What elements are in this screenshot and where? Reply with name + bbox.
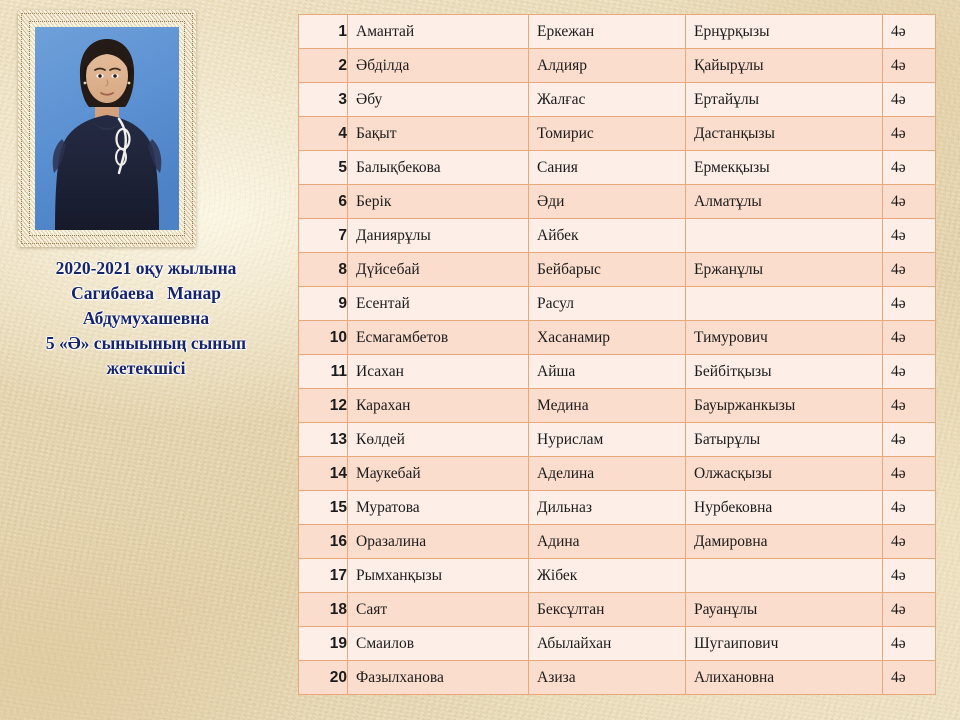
- cell-grade: 4ә: [883, 593, 936, 627]
- cell-row-number: 20: [299, 661, 348, 695]
- cell-grade: 4ә: [883, 559, 936, 593]
- table-row: 15МуратоваДильназНурбековна4ә: [299, 491, 936, 525]
- cell-patronymic: Шугаипович: [686, 627, 883, 661]
- cell-last-name: Есмагамбетов: [348, 321, 529, 355]
- caption-line-1: 2020-2021 оқу жылына: [6, 256, 286, 281]
- cell-last-name: Карахан: [348, 389, 529, 423]
- cell-first-name: Аделина: [529, 457, 686, 491]
- cell-grade: 4ә: [883, 83, 936, 117]
- cell-first-name: Жібек: [529, 559, 686, 593]
- cell-grade: 4ә: [883, 389, 936, 423]
- cell-patronymic: Дамировна: [686, 525, 883, 559]
- table-row: 7ДаниярұлыАйбек4ә: [299, 219, 936, 253]
- cell-first-name: Әди: [529, 185, 686, 219]
- cell-last-name: Саят: [348, 593, 529, 627]
- table-row: 16ОразалинаАдинаДамировна4ә: [299, 525, 936, 559]
- caption-line-3: Абдумухашевна: [6, 306, 286, 331]
- cell-row-number: 12: [299, 389, 348, 423]
- cell-first-name: Расул: [529, 287, 686, 321]
- cell-last-name: Бақыт: [348, 117, 529, 151]
- cell-grade: 4ә: [883, 355, 936, 389]
- cell-first-name: Медина: [529, 389, 686, 423]
- cell-grade: 4ә: [883, 49, 936, 83]
- teacher-portrait: [18, 10, 196, 247]
- cell-grade: 4ә: [883, 457, 936, 491]
- slide-canvas: 2020-2021 оқу жылына Сагибаева Манар Абд…: [0, 0, 960, 720]
- cell-first-name: Томирис: [529, 117, 686, 151]
- cell-row-number: 5: [299, 151, 348, 185]
- roster-table-body: 1АмантайЕркежанЕрнұрқызы4ә2ӘбділдаАлдияр…: [299, 15, 936, 695]
- caption-line-2: Сагибаева Манар: [6, 281, 286, 306]
- portrait-illustration: [35, 27, 179, 230]
- portrait-photo: [35, 27, 179, 230]
- cell-first-name: Айбек: [529, 219, 686, 253]
- table-row: 2ӘбділдаАлдиярҚайырұлы4ә: [299, 49, 936, 83]
- cell-grade: 4ә: [883, 525, 936, 559]
- cell-last-name: Муратова: [348, 491, 529, 525]
- table-row: 5БалықбековаСанияЕрмекқызы4ә: [299, 151, 936, 185]
- cell-row-number: 2: [299, 49, 348, 83]
- cell-grade: 4ә: [883, 185, 936, 219]
- roster-table-wrapper: 1АмантайЕркежанЕрнұрқызы4ә2ӘбділдаАлдияр…: [298, 14, 936, 695]
- cell-row-number: 4: [299, 117, 348, 151]
- cell-patronymic: Рауанұлы: [686, 593, 883, 627]
- table-row: 11ИсаханАйшаБейбітқызы4ә: [299, 355, 936, 389]
- cell-row-number: 17: [299, 559, 348, 593]
- cell-first-name: Еркежан: [529, 15, 686, 49]
- table-row: 3ӘбуЖалғасЕртайұлы4ә: [299, 83, 936, 117]
- cell-row-number: 14: [299, 457, 348, 491]
- cell-row-number: 9: [299, 287, 348, 321]
- table-row: 20ФазылхановаАзизаАлихановна4ә: [299, 661, 936, 695]
- cell-row-number: 6: [299, 185, 348, 219]
- cell-last-name: Рымханқызы: [348, 559, 529, 593]
- cell-patronymic: Ертайұлы: [686, 83, 883, 117]
- cell-last-name: Фазылханова: [348, 661, 529, 695]
- slide-caption: 2020-2021 оқу жылына Сагибаева Манар Абд…: [6, 256, 286, 381]
- caption-line-4: 5 «Ә» сыныының сынып: [6, 331, 286, 356]
- cell-grade: 4ә: [883, 253, 936, 287]
- caption-line-5: жетекшісі: [6, 356, 286, 381]
- cell-grade: 4ә: [883, 423, 936, 457]
- cell-last-name: Әбділда: [348, 49, 529, 83]
- table-row: 8ДүйсебайБейбарысЕржанұлы4ә: [299, 253, 936, 287]
- cell-patronymic: Дастанқызы: [686, 117, 883, 151]
- table-row: 17РымханқызыЖібек4ә: [299, 559, 936, 593]
- cell-row-number: 1: [299, 15, 348, 49]
- cell-patronymic: Олжасқызы: [686, 457, 883, 491]
- table-row: 9ЕсентайРасул4ә: [299, 287, 936, 321]
- cell-grade: 4ә: [883, 321, 936, 355]
- cell-last-name: Амантай: [348, 15, 529, 49]
- cell-grade: 4ә: [883, 491, 936, 525]
- cell-last-name: Берік: [348, 185, 529, 219]
- cell-patronymic: Қайырұлы: [686, 49, 883, 83]
- cell-row-number: 13: [299, 423, 348, 457]
- cell-last-name: Дүйсебай: [348, 253, 529, 287]
- cell-patronymic: Ермекқызы: [686, 151, 883, 185]
- cell-last-name: Көлдей: [348, 423, 529, 457]
- table-row: 1АмантайЕркежанЕрнұрқызы4ә: [299, 15, 936, 49]
- cell-first-name: Адина: [529, 525, 686, 559]
- cell-grade: 4ә: [883, 661, 936, 695]
- table-row: 10ЕсмагамбетовХасанамирТимурович4ә: [299, 321, 936, 355]
- cell-last-name: Смаилов: [348, 627, 529, 661]
- table-row: 6БерікӘдиАлматұлы4ә: [299, 185, 936, 219]
- cell-row-number: 15: [299, 491, 348, 525]
- cell-row-number: 11: [299, 355, 348, 389]
- cell-patronymic: Нурбековна: [686, 491, 883, 525]
- cell-last-name: Балықбекова: [348, 151, 529, 185]
- cell-last-name: Әбу: [348, 83, 529, 117]
- cell-patronymic: Тимурович: [686, 321, 883, 355]
- cell-last-name: Маукебай: [348, 457, 529, 491]
- cell-first-name: Жалғас: [529, 83, 686, 117]
- cell-patronymic: Ернұрқызы: [686, 15, 883, 49]
- cell-patronymic: Бауыржанкызы: [686, 389, 883, 423]
- cell-row-number: 16: [299, 525, 348, 559]
- cell-first-name: Бейбарыс: [529, 253, 686, 287]
- cell-row-number: 10: [299, 321, 348, 355]
- cell-row-number: 3: [299, 83, 348, 117]
- table-row: 13КөлдейНурисламБатырұлы4ә: [299, 423, 936, 457]
- cell-first-name: Дильназ: [529, 491, 686, 525]
- table-row: 12КараханМединаБауыржанкызы4ә: [299, 389, 936, 423]
- cell-row-number: 7: [299, 219, 348, 253]
- roster-table: 1АмантайЕркежанЕрнұрқызы4ә2ӘбділдаАлдияр…: [298, 14, 936, 695]
- cell-last-name: Исахан: [348, 355, 529, 389]
- cell-first-name: Хасанамир: [529, 321, 686, 355]
- cell-grade: 4ә: [883, 627, 936, 661]
- cell-patronymic: [686, 559, 883, 593]
- cell-patronymic: Алматұлы: [686, 185, 883, 219]
- cell-patronymic: [686, 287, 883, 321]
- cell-patronymic: Ержанұлы: [686, 253, 883, 287]
- cell-row-number: 19: [299, 627, 348, 661]
- cell-patronymic: Бейбітқызы: [686, 355, 883, 389]
- cell-first-name: Нурислам: [529, 423, 686, 457]
- cell-first-name: Бексұлтан: [529, 593, 686, 627]
- cell-first-name: Айша: [529, 355, 686, 389]
- cell-first-name: Алдияр: [529, 49, 686, 83]
- cell-patronymic: [686, 219, 883, 253]
- cell-last-name: Оразалина: [348, 525, 529, 559]
- cell-grade: 4ә: [883, 151, 936, 185]
- cell-first-name: Абылайхан: [529, 627, 686, 661]
- cell-row-number: 18: [299, 593, 348, 627]
- cell-patronymic: Алихановна: [686, 661, 883, 695]
- cell-row-number: 8: [299, 253, 348, 287]
- table-row: 19СмаиловАбылайханШугаипович4ә: [299, 627, 936, 661]
- cell-last-name: Даниярұлы: [348, 219, 529, 253]
- cell-patronymic: Батырұлы: [686, 423, 883, 457]
- table-row: 18СаятБексұлтанРауанұлы4ә: [299, 593, 936, 627]
- cell-last-name: Есентай: [348, 287, 529, 321]
- cell-first-name: Азиза: [529, 661, 686, 695]
- cell-grade: 4ә: [883, 117, 936, 151]
- cell-grade: 4ә: [883, 219, 936, 253]
- table-row: 4БақытТомирисДастанқызы4ә: [299, 117, 936, 151]
- cell-first-name: Сания: [529, 151, 686, 185]
- table-row: 14МаукебайАделинаОлжасқызы4ә: [299, 457, 936, 491]
- cell-grade: 4ә: [883, 15, 936, 49]
- cell-grade: 4ә: [883, 287, 936, 321]
